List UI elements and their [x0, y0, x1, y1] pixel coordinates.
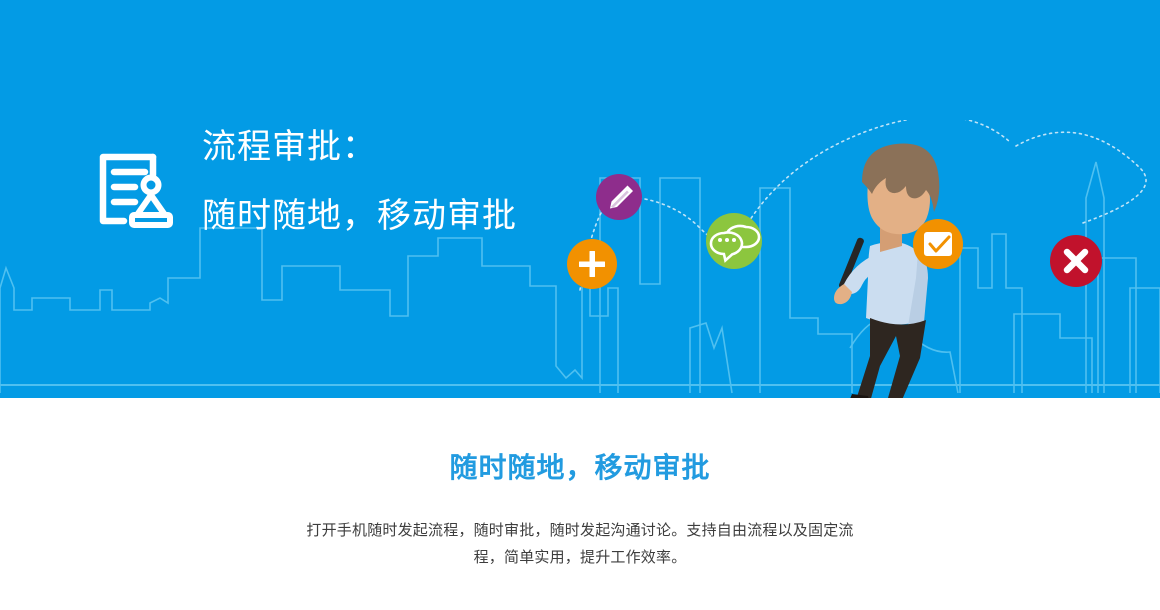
- section-heading: 随时随地，移动审批: [0, 446, 1160, 486]
- content-section: 随时随地，移动审批 打开手机随时发起流程，随时审批，随时发起沟通讨论。支持自由流…: [0, 398, 1160, 610]
- hero-banner: 流程审批： 随时随地，移动审批: [0, 0, 1160, 398]
- man-walking-with-tablet-illustration: [834, 144, 939, 398]
- badge-add[interactable]: [567, 239, 617, 289]
- badge-reject[interactable]: [1050, 235, 1102, 287]
- hero-illustration: [540, 120, 1160, 398]
- approval-document-icon: [90, 145, 178, 233]
- badge-chat[interactable]: [706, 213, 762, 269]
- section-body-text: 打开手机随时发起流程，随时审批，随时发起沟通讨论。支持自由流程以及固定流程，简单…: [300, 518, 860, 571]
- page-root: 流程审批： 随时随地，移动审批: [0, 0, 1160, 610]
- badge-edit[interactable]: [596, 174, 642, 220]
- badge-approve[interactable]: [913, 219, 963, 269]
